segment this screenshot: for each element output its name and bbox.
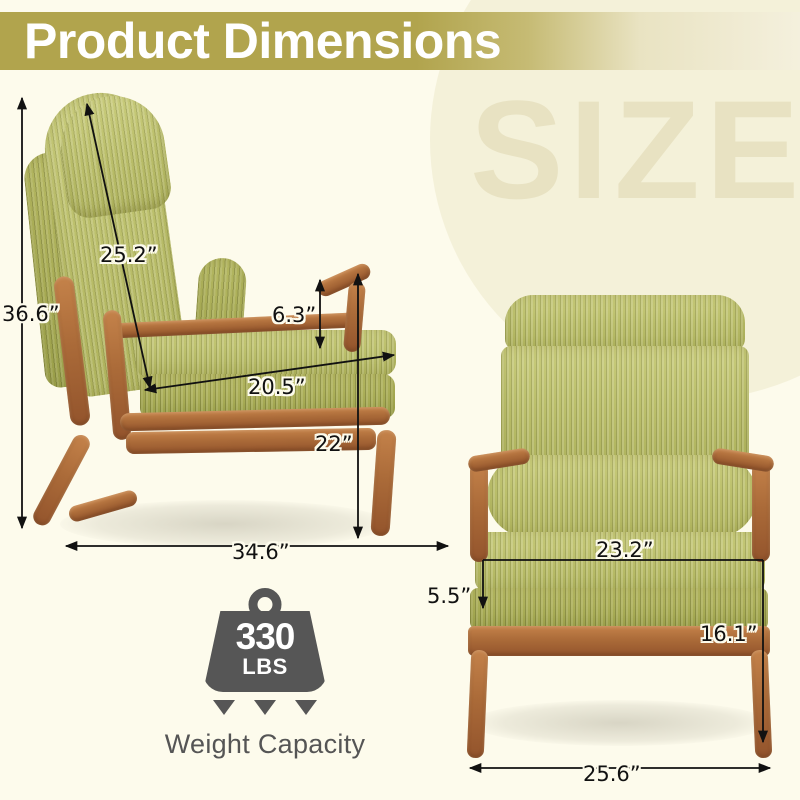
dim-label-backrest-length: 25.2” bbox=[100, 243, 158, 267]
dim-label-overall-height: 36.6” bbox=[2, 302, 60, 326]
dim-label-cushion-height: 5.5” bbox=[427, 584, 471, 608]
front-chair-headrest bbox=[505, 295, 745, 351]
front-chair-left-leg bbox=[467, 650, 489, 759]
front-chair-right-arm-post bbox=[752, 462, 770, 562]
page-title: Product Dimensions bbox=[24, 10, 501, 72]
weight-capacity-caption: Weight Capacity bbox=[120, 729, 410, 760]
infographic-canvas: SIZE Product Dimensions bbox=[0, 0, 800, 800]
header-banner: Product Dimensions bbox=[0, 12, 800, 70]
front-chair-right-leg bbox=[751, 650, 773, 759]
front-chair-shadow bbox=[470, 700, 770, 746]
dim-label-back-height: 22” bbox=[315, 432, 353, 456]
weight-icon: 330 LBS bbox=[203, 588, 327, 692]
dim-label-arm-to-seat: 6.3” bbox=[272, 303, 316, 327]
down-arrow-icon bbox=[254, 700, 276, 715]
size-watermark: SIZE bbox=[470, 80, 800, 220]
front-chair-backrest bbox=[501, 346, 749, 468]
front-chair-left-arm-post bbox=[470, 462, 488, 562]
weight-arrows-group bbox=[203, 700, 327, 715]
dim-label-seat-width: 23.2” bbox=[596, 538, 654, 562]
weight-unit: LBS bbox=[203, 656, 327, 678]
down-arrow-icon bbox=[213, 700, 235, 715]
weight-number: 330 bbox=[203, 618, 327, 655]
dim-label-seat-depth: 20.5” bbox=[248, 375, 306, 399]
dim-label-overall-depth: 34.6” bbox=[232, 540, 290, 564]
dim-label-overall-width: 25.6” bbox=[583, 762, 641, 786]
front-chair-bolster bbox=[487, 455, 757, 537]
weight-capacity-block: 330 LBS Weight Capacity bbox=[120, 588, 410, 760]
dim-label-seat-height: 16.1” bbox=[700, 622, 758, 646]
down-arrow-icon bbox=[295, 700, 317, 715]
